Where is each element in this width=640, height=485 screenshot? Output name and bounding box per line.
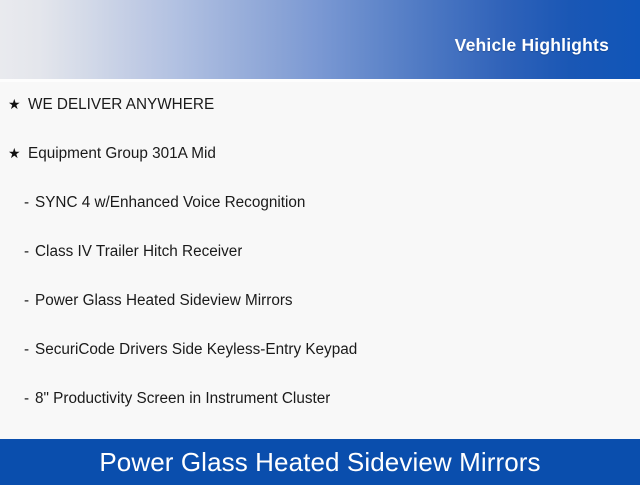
- footer-caption: Power Glass Heated Sideview Mirrors: [99, 449, 540, 475]
- feature-item: ★Equipment Group 301A Mid: [0, 145, 640, 194]
- feature-label: SYNC 4 w/Enhanced Voice Recognition: [35, 194, 305, 212]
- dash-bullet-icon: -: [24, 293, 35, 308]
- feature-label: WE DELIVER ANYWHERE: [28, 96, 214, 114]
- feature-list: ★WE DELIVER ANYWHERE★Equipment Group 301…: [0, 82, 640, 439]
- feature-label: Equipment Group 301A Mid: [28, 145, 216, 163]
- vehicle-highlights-slide: Vehicle Highlights ★WE DELIVER ANYWHERE★…: [0, 0, 640, 480]
- feature-label: Power Glass Heated Sideview Mirrors: [35, 292, 293, 310]
- feature-label: SecuriCode Drivers Side Keyless-Entry Ke…: [35, 341, 357, 359]
- footer-caption-bar: Power Glass Heated Sideview Mirrors: [0, 439, 640, 485]
- star-bullet-icon: ★: [8, 146, 28, 160]
- page-title: Vehicle Highlights: [455, 24, 640, 56]
- star-bullet-icon: ★: [8, 97, 28, 111]
- feature-item: -Class IV Trailer Hitch Receiver: [0, 243, 640, 292]
- dash-bullet-icon: -: [24, 195, 35, 210]
- feature-item: -SecuriCode Drivers Side Keyless-Entry K…: [0, 341, 640, 390]
- feature-label: 8" Productivity Screen in Instrument Clu…: [35, 390, 330, 408]
- dash-bullet-icon: -: [24, 244, 35, 259]
- feature-item: -8" Productivity Screen in Instrument Cl…: [0, 390, 640, 439]
- feature-item: -Power Glass Heated Sideview Mirrors: [0, 292, 640, 341]
- feature-item: -SYNC 4 w/Enhanced Voice Recognition: [0, 194, 640, 243]
- dash-bullet-icon: -: [24, 391, 35, 406]
- feature-label: Class IV Trailer Hitch Receiver: [35, 243, 242, 261]
- highlights-content: ★WE DELIVER ANYWHERE★Equipment Group 301…: [0, 82, 640, 439]
- dash-bullet-icon: -: [24, 342, 35, 357]
- header-banner: Vehicle Highlights: [0, 0, 640, 79]
- feature-item: ★WE DELIVER ANYWHERE: [0, 96, 640, 145]
